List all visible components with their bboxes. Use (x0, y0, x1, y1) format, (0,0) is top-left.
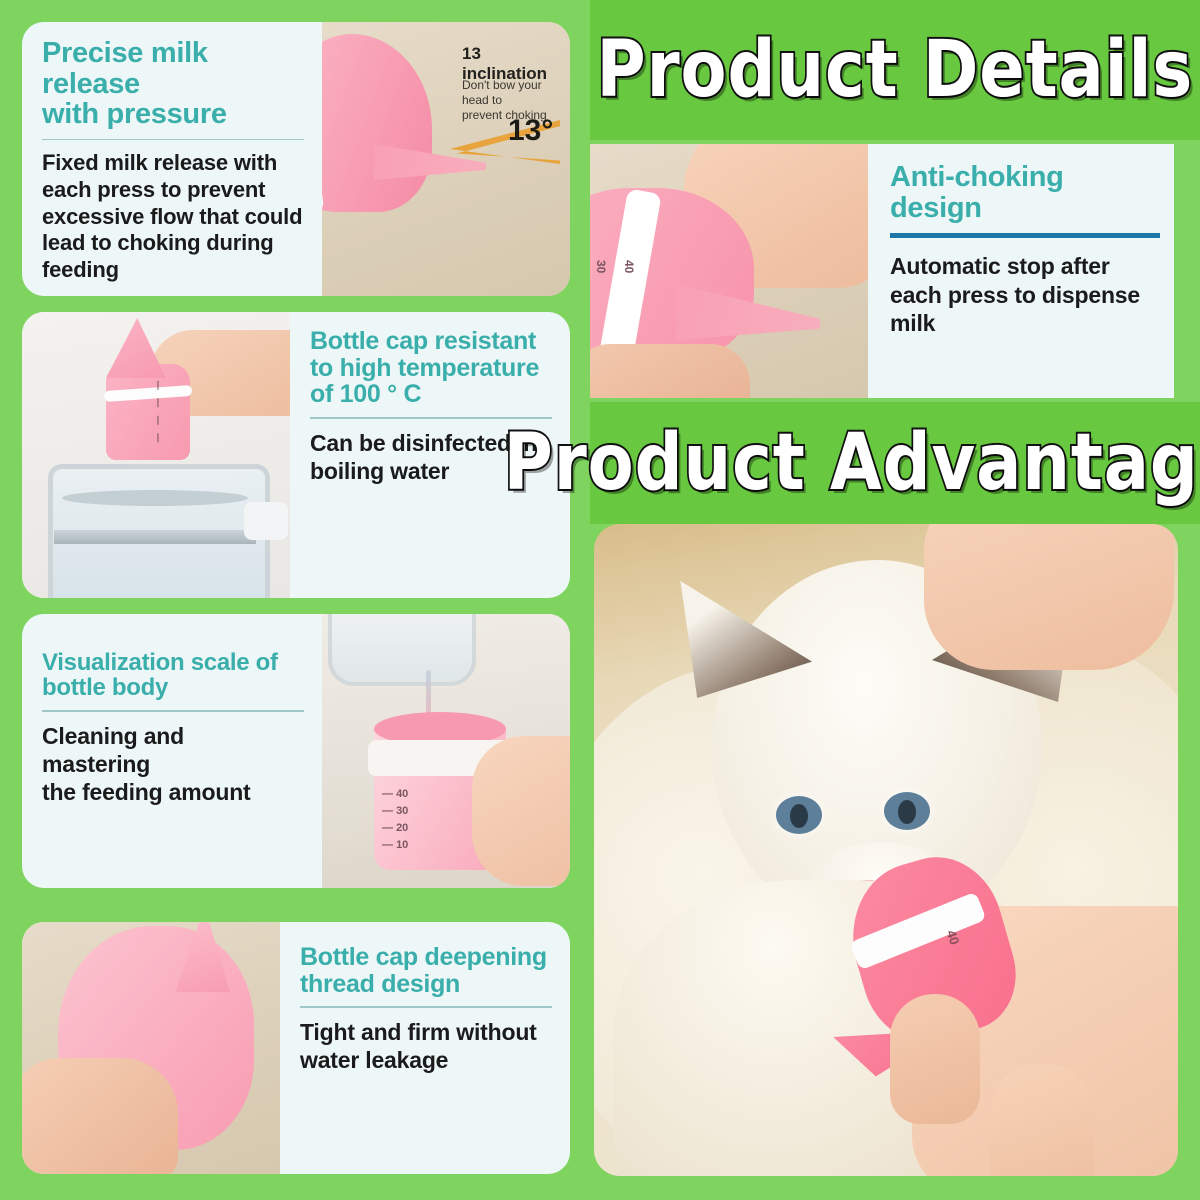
finger-graphic-2 (990, 1064, 1094, 1176)
kitten-pupil-left (790, 804, 808, 828)
banner-product-details: Product Details (590, 0, 1200, 140)
feature-body: Automatic stop after each press to dispe… (890, 252, 1160, 336)
heading-divider (42, 139, 304, 140)
banner-product-advantages: Product Advantages (590, 402, 1200, 524)
bottle-over-boiling-kettle-photo: — — — — (22, 312, 290, 598)
feature-body: Cleaning and mastering the feeding amoun… (42, 722, 304, 806)
banner-label: Product Advantages (504, 418, 1200, 508)
feature-heading: Bottle cap deepening thread design (300, 944, 552, 997)
feature-body: Tight and firm without water leakage (300, 1018, 552, 1074)
hand-graphic-top (924, 524, 1174, 670)
feature-card-visualization-scale: Visualization scale of bottle body Clean… (22, 614, 570, 888)
bottle-scale-labels: — 40 — 30 — 20 — 10 (382, 786, 408, 854)
feature-text-block: Anti-choking design Automatic stop after… (868, 144, 1174, 398)
feature-heading: Bottle cap resistant to high temperature… (310, 328, 552, 408)
hand-graphic (472, 736, 570, 886)
bottle-graphic (322, 34, 432, 212)
thumb-graphic (22, 1058, 178, 1174)
feature-body: Fixed milk release with each press to pr… (42, 150, 304, 284)
kettle-handle (244, 502, 288, 540)
feature-text-block: Visualization scale of bottle body Clean… (22, 614, 322, 888)
feature-card-precise-milk-release: Precise milk release with pressure Fixed… (22, 22, 570, 296)
kitten-pupil-right (898, 800, 916, 824)
heading-divider (300, 1006, 552, 1008)
glass-pitcher-graphic (328, 614, 476, 686)
feature-card-bottle-cap-heat-resistant: — — — — Bottle cap resistant to high tem… (22, 312, 570, 598)
feature-heading: Precise milk release with pressure (42, 38, 304, 130)
hand-squeezing-bottle-photo: 30 40 (590, 144, 868, 398)
kettle-water-surface (62, 490, 248, 506)
bottle-scale-graphic: — — — — (153, 381, 163, 446)
fingers-graphic (590, 344, 750, 398)
feature-heading: Visualization scale of bottle body (42, 650, 304, 701)
angle-value: 13° (508, 114, 553, 148)
finger-graphic-1 (890, 994, 980, 1124)
feature-text-block: Bottle cap deepening thread design Tight… (280, 922, 570, 1174)
bottle-scale-labels-small: 30 40 (594, 260, 636, 273)
heading-divider (890, 233, 1160, 238)
infographic-root: Precise milk release with pressure Fixed… (0, 0, 1200, 1200)
feature-card-deepening-thread-design: Bottle cap deepening thread design Tight… (22, 922, 570, 1174)
pouring-water-into-bottle-photo: — 40 — 30 — 20 — 10 (322, 614, 570, 888)
heading-divider (42, 710, 304, 712)
bottle-angle-photo: 13 inclination Don't bow your head to pr… (322, 22, 570, 296)
thumb-pressing-bottle-photo (22, 922, 280, 1174)
feature-card-anti-choking-design: 30 40 Anti-choking design Automatic stop… (590, 144, 1174, 398)
feature-heading: Anti-choking design (890, 162, 1160, 223)
feature-text-block: Precise milk release with pressure Fixed… (22, 22, 322, 296)
bottle-graphic (106, 364, 190, 460)
banner-label: Product Details (597, 25, 1194, 115)
kettle-band (54, 530, 256, 544)
kitten-feeding-photo: 40 (594, 524, 1178, 1176)
